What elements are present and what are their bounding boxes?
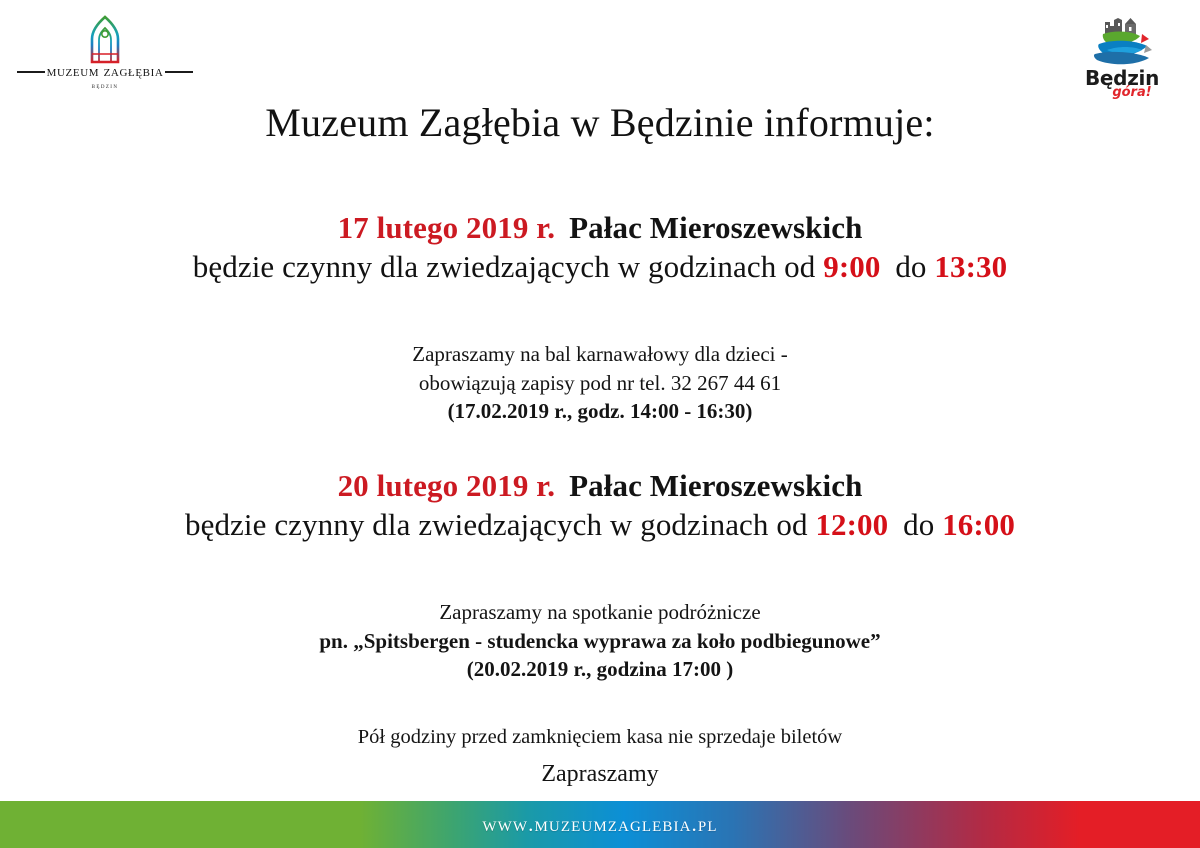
announcement-1-close: 13:30	[934, 249, 1007, 284]
announcement-2-close: 16:00	[942, 507, 1015, 542]
announcement-1-note-bold: (17.02.2019 r., godz. 14:00 - 16:30)	[0, 397, 1200, 426]
website-url[interactable]: WWW.MUZEUMZAGLEBIA.PL	[482, 812, 717, 837]
announcement-1-hours-middle: do	[895, 249, 926, 284]
announcement-2-place: Pałac Mieroszewskich	[569, 468, 862, 503]
rule-right	[165, 71, 193, 73]
announcement-2-hours: będzie czynny dla zwiedzających w godzin…	[0, 507, 1200, 544]
footer-bar: WWW.MUZEUMZAGLEBIA.PL	[0, 801, 1200, 848]
announcement-2: 20 lutego 2019 r.Pałac Mieroszewskich bę…	[0, 468, 1200, 543]
announcement-2-note-line-1: Zapraszamy na spotkanie podróżnicze	[0, 598, 1200, 627]
museum-city: BĘDZIN	[22, 81, 188, 90]
announcement-1-place: Pałac Mieroszewskich	[569, 210, 862, 245]
announcement-2-title: 20 lutego 2019 r.Pałac Mieroszewskich	[0, 468, 1200, 505]
museum-name: MUZEUM ZAGŁĘBIA	[47, 64, 164, 80]
announcement-1-note-line-2: obowiązują zapisy pod nr tel. 32 267 44 …	[0, 369, 1200, 398]
museum-logo: MUZEUM ZAGŁĘBIA BĘDZIN	[22, 14, 188, 90]
announcement-2-note-bold: (20.02.2019 r., godzina 17:00 )	[0, 655, 1200, 684]
bedzin-logo: Będzin góra!	[1070, 12, 1174, 99]
page-title: Muzeum Zagłębia w Będzinie informuje:	[0, 101, 1200, 145]
announcement-2-date: 20 lutego 2019 r.	[338, 468, 556, 503]
announcement-2-hours-middle: do	[903, 507, 934, 542]
announcement-1-hours-prefix: będzie czynny dla zwiedzających w godzin…	[193, 249, 816, 284]
announcement-1-hours: będzie czynny dla zwiedzających w godzin…	[0, 249, 1200, 286]
rule-left	[17, 71, 45, 73]
announcement-1: 17 lutego 2019 r.Pałac Mieroszewskich bę…	[0, 210, 1200, 285]
closing-invitation: Zapraszamy	[0, 761, 1200, 787]
announcement-2-open: 12:00	[815, 507, 888, 542]
announcement-1-date: 17 lutego 2019 r.	[338, 210, 556, 245]
announcement-2-hours-prefix: będzie czynny dla zwiedzających w godzin…	[185, 507, 808, 542]
announcement-1-title: 17 lutego 2019 r.Pałac Mieroszewskich	[0, 210, 1200, 247]
castle-hill-icon	[1085, 12, 1159, 72]
poster-canvas: MUZEUM ZAGŁĘBIA BĘDZIN Będzin góra! Muze…	[0, 0, 1200, 848]
announcement-1-open: 9:00	[823, 249, 880, 284]
announcement-1-note-line-1: Zapraszamy na bal karnawałowy dla dzieci…	[0, 340, 1200, 369]
gothic-window-icon	[85, 14, 125, 66]
museum-wordmark: MUZEUM ZAGŁĘBIA	[22, 64, 188, 80]
announcement-2-note: Zapraszamy na spotkanie podróżnicze pn. …	[0, 598, 1200, 684]
closing-note: Pół godziny przed zamknięciem kasa nie s…	[0, 726, 1200, 749]
announcement-1-note: Zapraszamy na bal karnawałowy dla dzieci…	[0, 340, 1200, 426]
announcement-2-note-title: pn. „Spitsbergen - studencka wyprawa za …	[0, 627, 1200, 656]
